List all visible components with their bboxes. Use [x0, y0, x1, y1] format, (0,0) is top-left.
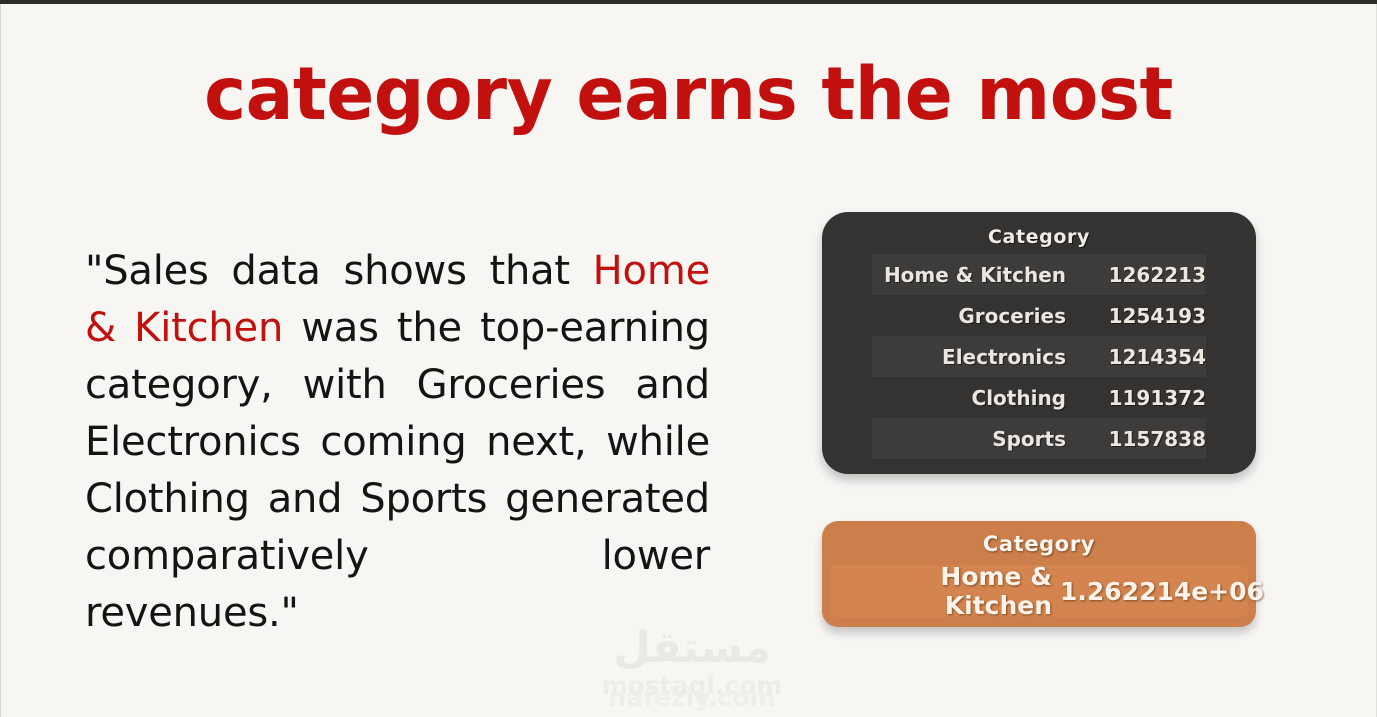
- dark-table-header: Category: [872, 222, 1206, 252]
- table-cell-value: 1191372: [1076, 386, 1212, 410]
- table-cell-category: Clothing: [872, 386, 1076, 410]
- table-cell-category: Home & Kitchen: [872, 263, 1076, 287]
- table-row: Clothing 1191372: [872, 377, 1206, 418]
- dark-results-table: Category Home & Kitchen 1262213 Grocerie…: [822, 212, 1256, 474]
- orange-table-body: Home & Kitchen 1.262214e+06: [830, 565, 1248, 617]
- watermark-domain-secondary: nafeziy.com: [592, 684, 792, 712]
- table-row: Groceries 1254193: [872, 295, 1206, 336]
- narrative-paragraph: "Sales data shows that Home & Kitchen wa…: [85, 243, 710, 642]
- table-cell-value: 1262213: [1076, 263, 1212, 287]
- orange-table-header: Category: [848, 527, 1230, 561]
- slide-title: category earns the most: [21, 52, 1357, 138]
- table-cell-value: 1214354: [1076, 345, 1212, 369]
- table-cell-category: Groceries: [872, 304, 1076, 328]
- narrative-segment-1: "Sales data shows that: [85, 248, 593, 294]
- table-row: Home & Kitchen 1.262214e+06: [830, 565, 1248, 617]
- slide-left-border: [0, 4, 1, 717]
- table-cell-category: Electronics: [872, 345, 1076, 369]
- table-cell-category: Sports: [872, 427, 1076, 451]
- table-cell-value: 1157838: [1076, 427, 1212, 451]
- orange-top-result-table: Category Home & Kitchen 1.262214e+06: [822, 521, 1256, 627]
- table-row: Electronics 1214354: [872, 336, 1206, 377]
- dark-table-body: Home & Kitchen 1262213 Groceries 1254193…: [872, 254, 1206, 459]
- table-row: Home & Kitchen 1262213: [872, 254, 1206, 295]
- table-row: Sports 1157838: [872, 418, 1206, 459]
- narrative-segment-3: was the top-earning category, with Groce…: [85, 305, 710, 636]
- slide-canvas: category earns the most "Sales data show…: [0, 0, 1377, 717]
- table-cell-value: 1254193: [1076, 304, 1212, 328]
- table-cell-category: Home & Kitchen: [830, 562, 1060, 620]
- watermark-domain-primary: mostaql.com: [592, 672, 792, 700]
- slide-top-border: [0, 0, 1377, 4]
- table-cell-value: 1.262214e+06: [1060, 577, 1258, 606]
